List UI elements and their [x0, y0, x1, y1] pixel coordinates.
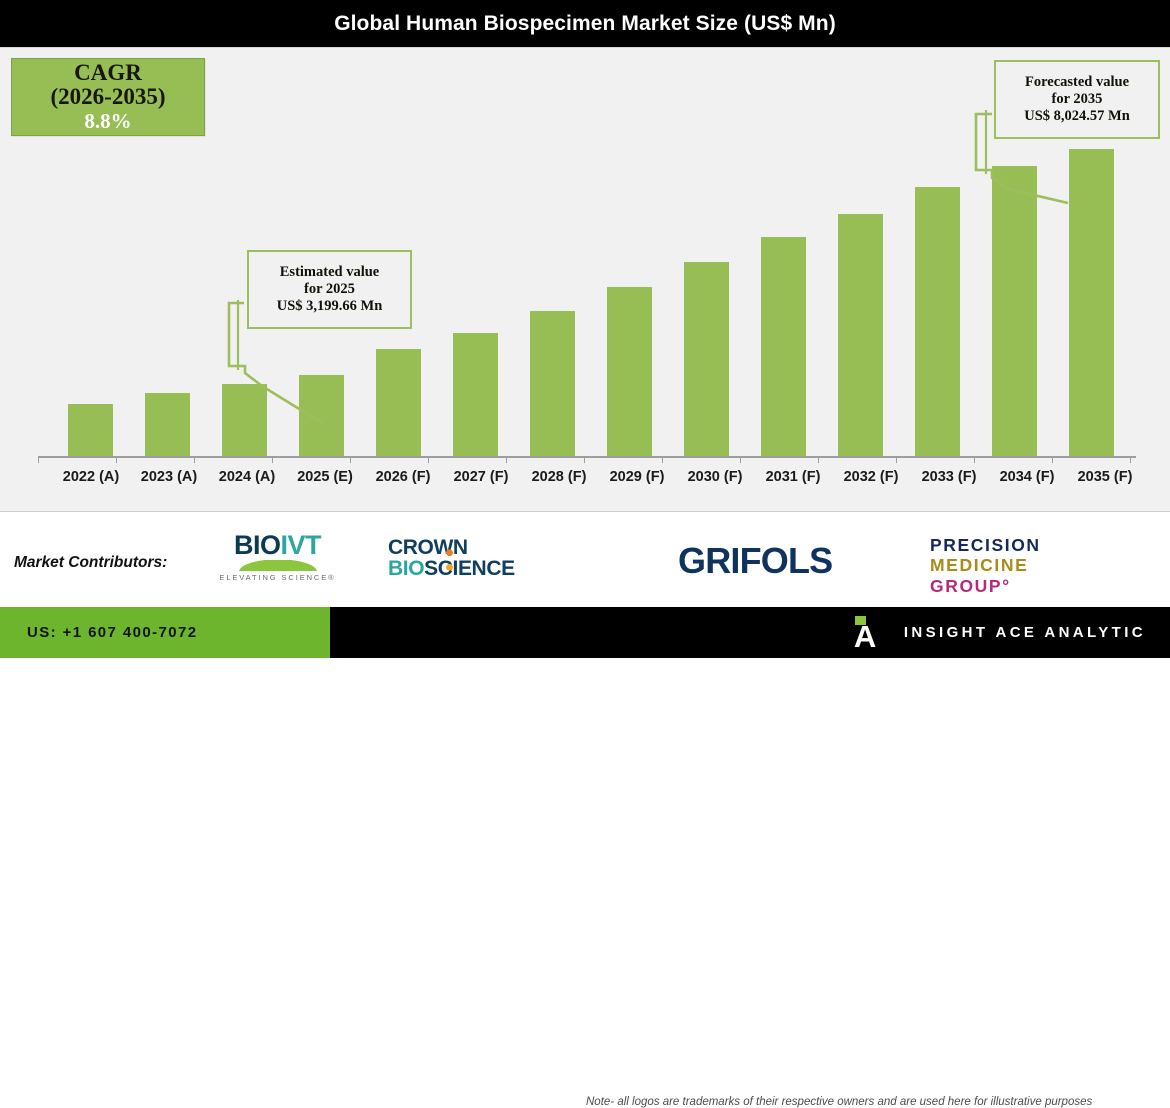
x-label-2035: 2035 (F) — [1057, 469, 1153, 485]
grifols-wordmark: GRIFOLS — [678, 540, 832, 582]
x-axis-tick — [584, 456, 585, 463]
grifols-logo: GRIFOLS — [678, 540, 832, 582]
x-axis-tick — [116, 456, 117, 463]
bar-2034[interactable] — [992, 166, 1037, 456]
forecasted-callout-line2: for 2035 — [1052, 91, 1103, 108]
title-bar: Global Human Biospecimen Market Size (US… — [0, 0, 1170, 47]
crown-logo-line1: CROWN — [388, 537, 563, 558]
bioivt-logo-secondary: IVT — [281, 530, 322, 560]
forecasted-value-callout: Forecasted value for 2035 US$ 8,024.57 M… — [994, 60, 1160, 139]
x-axis-tick — [662, 456, 663, 463]
page-title: Global Human Biospecimen Market Size (US… — [334, 12, 836, 36]
x-axis-tick — [194, 456, 195, 463]
x-axis-tick — [350, 456, 351, 463]
crown-logo-line2a: BIO — [388, 557, 424, 580]
x-axis-tick — [1130, 456, 1131, 463]
footer-brand-name: INSIGHT ACE ANALYTIC — [904, 624, 1146, 641]
bar-2028[interactable] — [530, 311, 575, 456]
bioivt-swoosh-icon — [219, 560, 337, 571]
x-axis-tick — [428, 456, 429, 463]
bar-2024[interactable] — [222, 384, 267, 456]
estimated-value-callout: Estimated value for 2025 US$ 3,199.66 Mn — [247, 250, 412, 329]
bar-2022[interactable] — [68, 404, 113, 456]
crown-bioscience-logo: CROWN BIOSCIENCE — [388, 537, 563, 579]
bar-2031[interactable] — [761, 237, 806, 456]
bioivt-logo-tagline: ELEVATING SCIENCE® — [215, 573, 340, 582]
bar-2025[interactable] — [299, 375, 344, 456]
cagr-value: 8.8% — [84, 110, 131, 134]
pmg-logo-line3: GROUP° — [930, 576, 1041, 596]
x-axis-tick — [506, 456, 507, 463]
estimated-callout-line3: US$ 3,199.66 Mn — [277, 298, 383, 315]
market-contributors-label: Market Contributors: — [14, 554, 167, 572]
bioivt-logo-primary: BIO — [234, 530, 281, 560]
pmg-logo-line2: MEDICINE — [930, 555, 1041, 575]
cagr-badge: CAGR (2026-2035) 8.8% — [11, 58, 205, 136]
cagr-period: (2026-2035) — [51, 85, 166, 110]
bioivt-logo: BIOIVT ELEVATING SCIENCE® — [215, 532, 340, 582]
logo-letter-a: A — [854, 623, 884, 650]
bar-2023[interactable] — [145, 393, 190, 456]
x-axis-tick — [1052, 456, 1053, 463]
market-contributors-strip: Market Contributors: BIOIVT ELEVATING SC… — [0, 512, 1170, 607]
bar-2032[interactable] — [838, 214, 883, 456]
estimated-callout-line2: for 2025 — [304, 281, 355, 298]
bar-2029[interactable] — [607, 287, 652, 456]
dna-helix-icon — [442, 547, 457, 573]
pmg-logo-line1: PRECISION — [930, 535, 1041, 555]
x-axis-tick — [38, 456, 39, 463]
cagr-label: CAGR — [74, 61, 142, 86]
crown-logo-line2b: SCIENCE — [424, 557, 515, 580]
footer-brand-block: A INSIGHT ACE ANALYTIC — [854, 607, 1146, 658]
bar-2026[interactable] — [376, 349, 421, 456]
footer-phone-number[interactable]: US: +1 607 400-7072 — [27, 624, 197, 641]
forecasted-callout-line3: US$ 8,024.57 Mn — [1024, 108, 1130, 125]
bar-2035[interactable] — [1069, 149, 1114, 456]
trademark-note: Note- all logos are trademarks of their … — [586, 1096, 1092, 1108]
estimated-callout-line1: Estimated value — [280, 264, 379, 281]
x-axis-tick — [818, 456, 819, 463]
footer-bar: US: +1 607 400-7072 A INSIGHT ACE ANALYT… — [0, 607, 1170, 658]
footer-contact-block: US: +1 607 400-7072 — [0, 607, 330, 658]
x-axis-line — [38, 456, 1136, 458]
forecasted-callout-line1: Forecasted value — [1025, 74, 1129, 91]
bar-2027[interactable] — [453, 333, 498, 456]
precision-medicine-group-logo: PRECISION MEDICINE GROUP° — [930, 535, 1041, 596]
x-axis-tick — [740, 456, 741, 463]
bar-2033[interactable] — [915, 187, 960, 456]
insight-ace-logo-icon: A — [854, 616, 884, 650]
x-axis-tick — [272, 456, 273, 463]
x-axis-tick — [974, 456, 975, 463]
bar-2030[interactable] — [684, 262, 729, 456]
x-axis-tick — [896, 456, 897, 463]
